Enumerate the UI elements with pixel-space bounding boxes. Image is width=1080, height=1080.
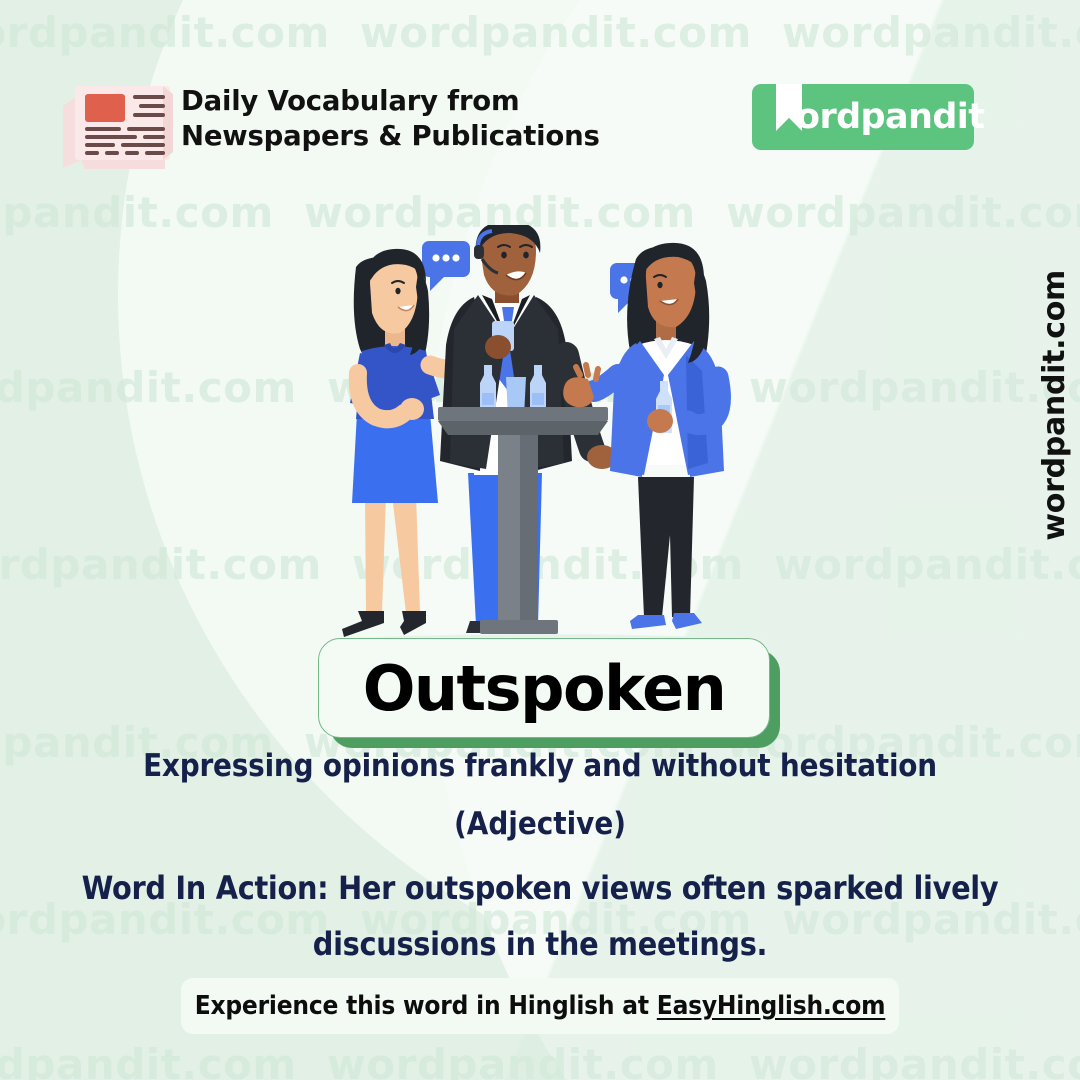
brand-name-label: ordpandit	[796, 97, 984, 137]
headline-line-2: Newspapers & Publications	[181, 119, 611, 154]
part-of-speech: (Adjective)	[0, 806, 1080, 842]
bookmark-w-icon	[776, 84, 802, 131]
word-card-body: Outspoken	[318, 638, 770, 738]
speech-bubble-left	[422, 241, 470, 291]
headline-line-1: Daily Vocabulary from	[181, 84, 611, 119]
page-title: Daily Vocabulary from Newspapers & Publi…	[181, 84, 611, 154]
poster-canvas: wordpandit.com wordpandit.com wordpandit…	[0, 0, 1080, 1080]
hinglish-cta-bar[interactable]: Experience this word in Hinglish at Easy…	[181, 978, 899, 1034]
poster-header: Daily Vocabulary from Newspapers & Publi…	[0, 0, 1080, 185]
word-definition: Expressing opinions frankly and without …	[0, 748, 1080, 784]
hinglish-cta-text: Experience this word in Hinglish at Easy…	[195, 991, 886, 1021]
vocabulary-word: Outspoken	[363, 652, 726, 725]
vertical-site-url: wordpandit.com	[1037, 270, 1072, 541]
three-people-podium-discussion-illustration	[330, 225, 750, 650]
newspaper-icon	[55, 72, 180, 172]
word-in-action: Word In Action: Her outspoken views ofte…	[20, 860, 1060, 972]
word-card: Outspoken	[318, 638, 778, 744]
wordpandit-logo[interactable]: ordpandit	[752, 84, 974, 150]
easyhinglish-link[interactable]: EasyHinglish.com	[657, 991, 886, 1021]
hinglish-cta-prefix: Experience this word in Hinglish at	[195, 991, 657, 1021]
